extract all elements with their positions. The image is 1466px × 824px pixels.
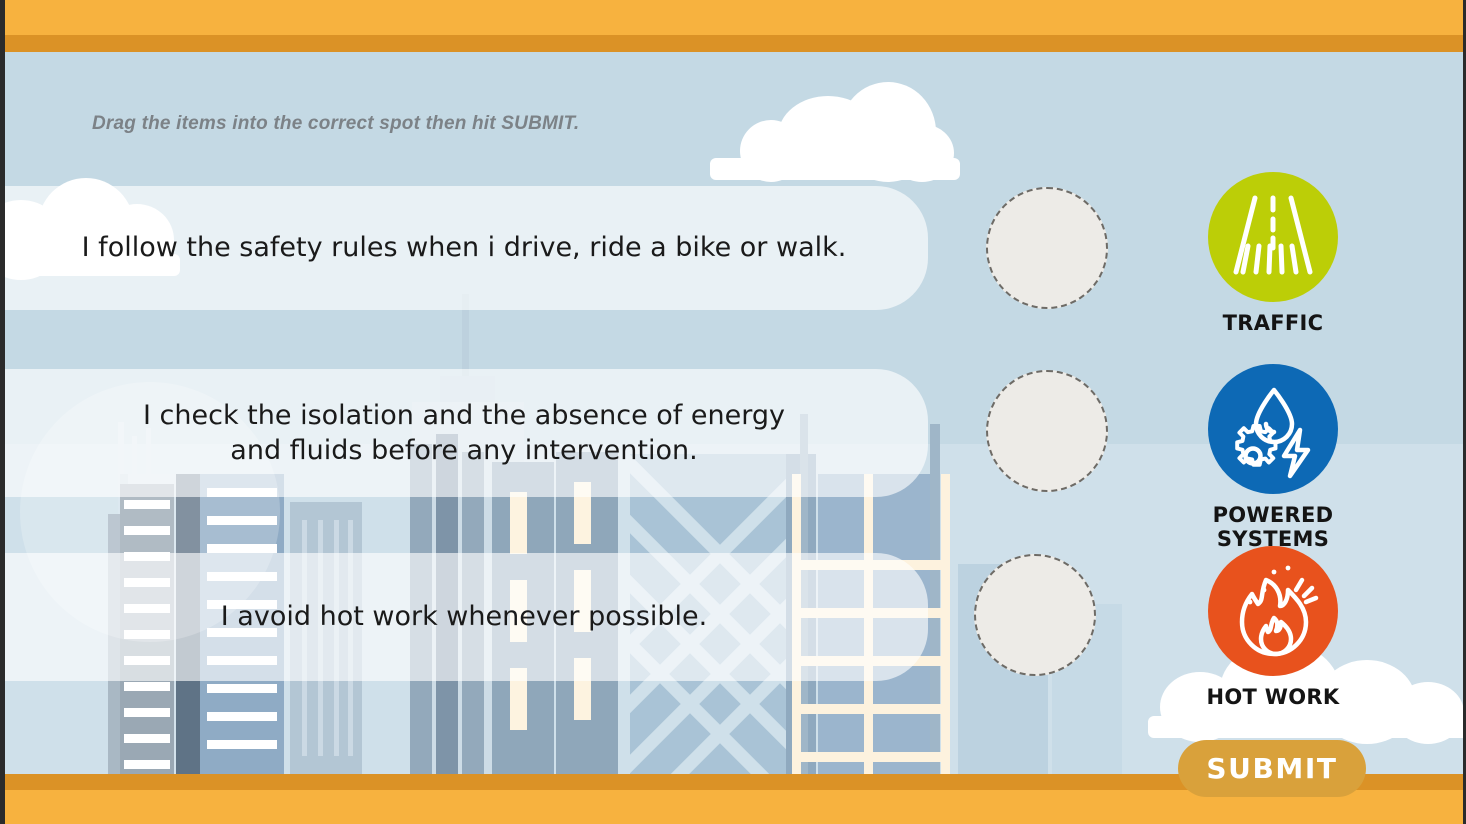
top-band-accent	[0, 35, 1466, 52]
category-powered-systems[interactable]: POWERED SYSTEMS	[1158, 364, 1388, 551]
category-traffic[interactable]: TRAFFIC	[1158, 172, 1388, 335]
flame-glyph	[1208, 546, 1338, 676]
left-edge	[0, 0, 5, 824]
top-band	[0, 0, 1466, 35]
statement-text: I check the isolation and the absence of…	[143, 398, 785, 468]
statement-text: I follow the safety rules when i drive, …	[82, 230, 847, 265]
draggable-statement-1[interactable]: I follow the safety rules when i drive, …	[0, 186, 928, 310]
cloud	[700, 82, 960, 172]
flame-icon	[1208, 546, 1338, 676]
statement-text: I avoid hot work whenever possible.	[221, 599, 707, 634]
category-label: TRAFFIC	[1158, 311, 1388, 335]
draggable-statement-2[interactable]: I check the isolation and the absence of…	[0, 369, 928, 497]
instruction-text: Drag the items into the correct spot the…	[92, 113, 579, 135]
category-label: HOT WORK	[1158, 685, 1388, 709]
draggable-statement-3[interactable]: I avoid hot work whenever possible.	[0, 553, 928, 681]
submit-button[interactable]: SUBMIT	[1178, 740, 1366, 797]
dropzone-traffic[interactable]	[986, 187, 1108, 309]
dropzone-powered-systems[interactable]	[986, 370, 1108, 492]
category-hot-work[interactable]: HOT WORK	[1158, 546, 1388, 709]
road-icon-glyph	[1208, 172, 1338, 302]
road-icon	[1208, 172, 1338, 302]
category-label: POWERED SYSTEMS	[1158, 503, 1388, 551]
lesson-stage: Drag the items into the correct spot the…	[0, 0, 1466, 824]
droplet-gear-bolt-icon	[1208, 364, 1338, 494]
droplet-gear-bolt-glyph	[1208, 364, 1338, 494]
dropzone-hot-work[interactable]	[974, 554, 1096, 676]
window	[510, 492, 527, 554]
